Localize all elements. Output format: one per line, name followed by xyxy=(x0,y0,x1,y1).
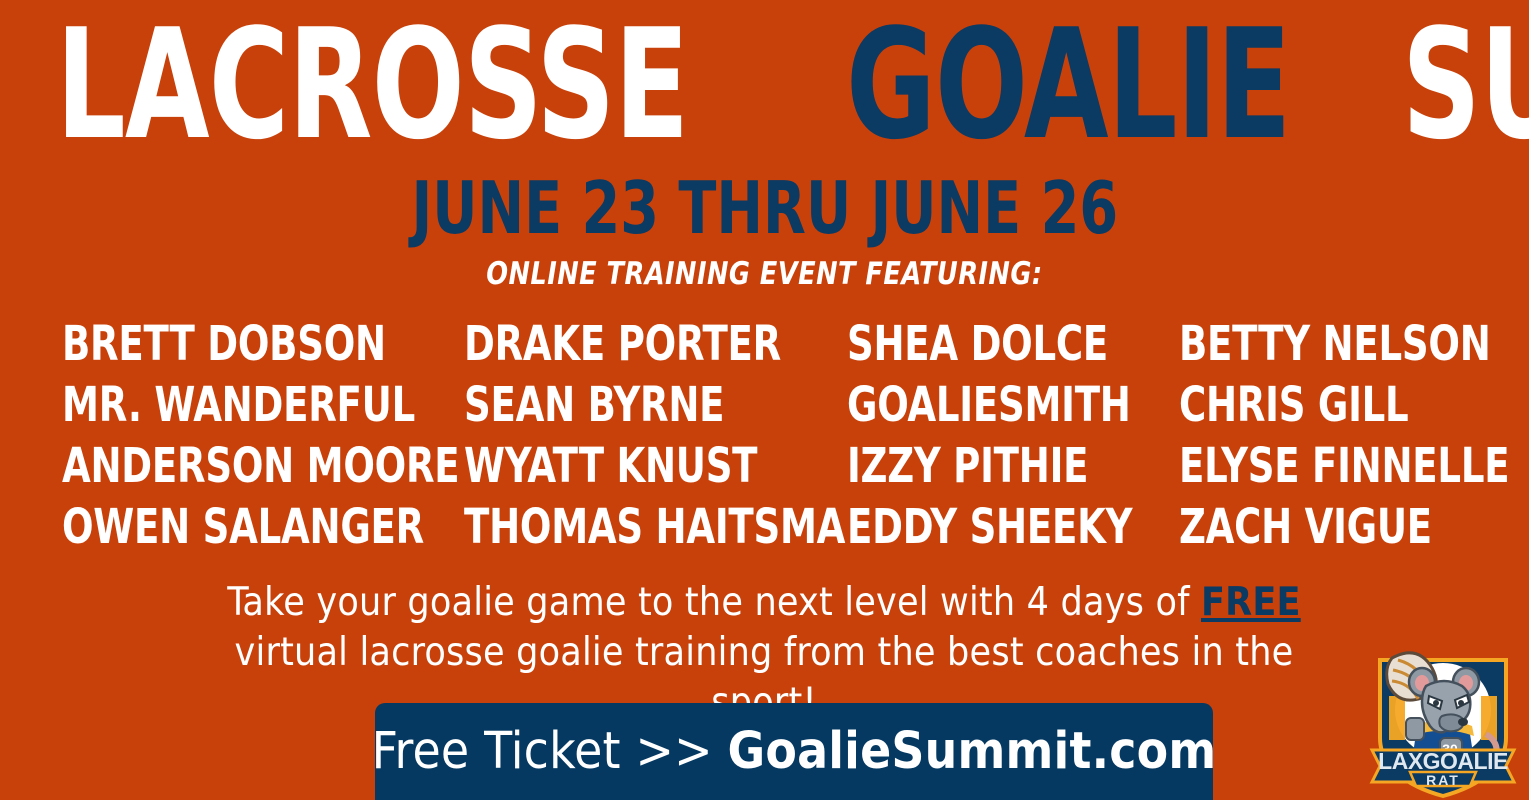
speaker-name: CHRIS GILL xyxy=(1179,375,1437,436)
featuring-label: ONLINE TRAINING EVENT FEATURING: xyxy=(0,256,1529,292)
speaker-name: MR. WANDERFUL xyxy=(62,375,408,436)
featuring-label-text: ONLINE TRAINING EVENT FEATURING: xyxy=(486,256,1042,292)
poster-title: LACROSSE GOALIE SUMMIT 16 xyxy=(56,8,1486,158)
cta-prefix: Free Ticket >> xyxy=(372,722,728,781)
speaker-name: BRETT DOBSON xyxy=(62,314,408,375)
speaker-name: OWEN SALANGER xyxy=(62,497,408,558)
speaker-name: EDDY SHEEKY xyxy=(847,497,1132,558)
event-dates: JUNE 23 THRU JUNE 26 xyxy=(0,172,1529,244)
speaker-name: IZZY PITHIE xyxy=(847,436,1132,497)
logo-artwork: 30 LAXGOALIE RAT xyxy=(1362,638,1524,800)
speaker-list: BRETT DOBSON MR. WANDERFUL ANDERSON MOOR… xyxy=(62,314,1472,564)
poster-canvas: LACROSSE GOALIE SUMMIT 16 JUNE 23 THRU J… xyxy=(0,0,1529,800)
speaker-column-4: BETTY NELSON CHRIS GILL ELYSE FINNELLE Z… xyxy=(1179,314,1479,564)
speaker-name: BETTY NELSON xyxy=(1179,314,1437,375)
speaker-name: ANDERSON MOORE xyxy=(62,436,408,497)
speaker-name: ELYSE FINNELLE xyxy=(1179,436,1437,497)
event-dates-text: JUNE 23 THRU JUNE 26 xyxy=(411,172,1118,244)
logo-glove-left xyxy=(1406,718,1424,740)
speaker-name: SEAN BYRNE xyxy=(464,375,793,436)
speaker-column-3: SHEA DOLCE GOALIESMITH IZZY PITHIE EDDY … xyxy=(847,314,1179,564)
speaker-name: WYATT KNUST xyxy=(464,436,793,497)
logo-brand-line-2: RAT xyxy=(1426,772,1460,788)
speaker-name: DRAKE PORTER xyxy=(464,314,793,375)
logo-accent-left xyxy=(1389,696,1405,740)
speaker-name: GOALIESMITH xyxy=(847,375,1132,436)
cta-domain: GoalieSummit.com xyxy=(728,722,1217,781)
speaker-name: THOMAS HAITSMA xyxy=(464,497,793,558)
speaker-name: ZACH VIGUE xyxy=(1179,497,1437,558)
title-word-summit: SUMMIT xyxy=(1402,10,1529,160)
title-word-goalie: GOALIE xyxy=(846,10,1291,160)
free-ticket-cta-button[interactable]: Free Ticket >> GoalieSummit.com xyxy=(375,703,1213,800)
cta-label: Free Ticket >> GoalieSummit.com xyxy=(372,724,1217,780)
laxgoalierat-logo[interactable]: 30 LAXGOALIE RAT xyxy=(1362,638,1524,800)
speaker-column-2: DRAKE PORTER SEAN BYRNE WYATT KNUST THOM… xyxy=(464,314,847,564)
description-free-highlight: FREE xyxy=(1201,580,1301,625)
logo-brand-line-1: LAXGOALIE xyxy=(1378,748,1508,774)
description-part-1: Take your goalie game to the next level … xyxy=(227,580,1201,625)
speaker-name: SHEA DOLCE xyxy=(847,314,1132,375)
title-word-lacrosse: LACROSSE xyxy=(56,10,688,160)
speaker-column-1: BRETT DOBSON MR. WANDERFUL ANDERSON MOOR… xyxy=(62,314,464,564)
